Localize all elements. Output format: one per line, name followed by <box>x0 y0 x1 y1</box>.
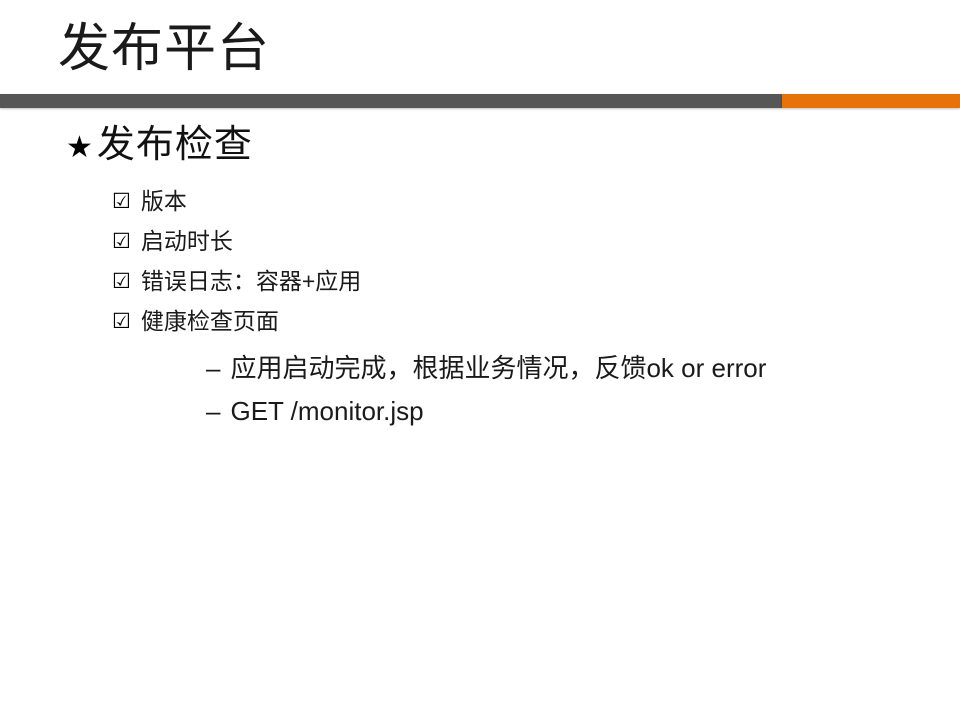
checkbox-checked-icon: ☑ <box>112 221 131 261</box>
slide-body: ★ 发布检查 ☑ 版本 ☑ 启动时长 ☑ 错误日志：容器+应用 ☑ 健康检查页面 <box>0 122 960 433</box>
checkbox-checked-icon: ☑ <box>112 301 131 341</box>
list-item: ☑ 版本 <box>112 181 960 221</box>
dash-bullet-icon: – <box>206 390 220 433</box>
list-item-label: 错误日志：容器+应用 <box>141 261 361 301</box>
title-divider-bar <box>0 94 960 108</box>
section-heading-label: 发布检查 <box>97 122 253 168</box>
checklist: ☑ 版本 ☑ 启动时长 ☑ 错误日志：容器+应用 ☑ 健康检查页面 <box>0 181 960 341</box>
sub-list-item-label: 应用启动完成，根据业务情况，反馈ok or error <box>230 347 766 390</box>
list-item: ☑ 启动时长 <box>112 221 960 261</box>
checkbox-checked-icon: ☑ <box>112 261 131 301</box>
list-item: ☑ 错误日志：容器+应用 <box>112 261 960 301</box>
sub-list-item: – GET /monitor.jsp <box>206 390 960 433</box>
checkbox-checked-icon: ☑ <box>112 181 131 221</box>
section-heading: ★ 发布检查 <box>66 122 960 171</box>
divider-orange-accent <box>782 94 960 108</box>
list-item: ☑ 健康检查页面 <box>112 301 960 341</box>
list-item-label: 健康检查页面 <box>141 301 279 341</box>
sub-item-list: – 应用启动完成，根据业务情况，反馈ok or error – GET /mon… <box>0 347 960 433</box>
list-item-label: 启动时长 <box>141 221 233 261</box>
slide-canvas: 发布平台 ★ 发布检查 ☑ 版本 ☑ 启动时长 ☑ 错误日志：容器+应用 ☑ <box>0 0 960 720</box>
sub-list-item-label: GET /monitor.jsp <box>230 390 423 433</box>
star-icon: ★ <box>66 125 93 171</box>
list-item-label: 版本 <box>141 181 187 221</box>
divider-gray-segment <box>0 94 782 108</box>
sub-list-item: – 应用启动完成，根据业务情况，反馈ok or error <box>206 347 960 390</box>
dash-bullet-icon: – <box>206 347 220 390</box>
page-title: 发布平台 <box>58 18 270 80</box>
